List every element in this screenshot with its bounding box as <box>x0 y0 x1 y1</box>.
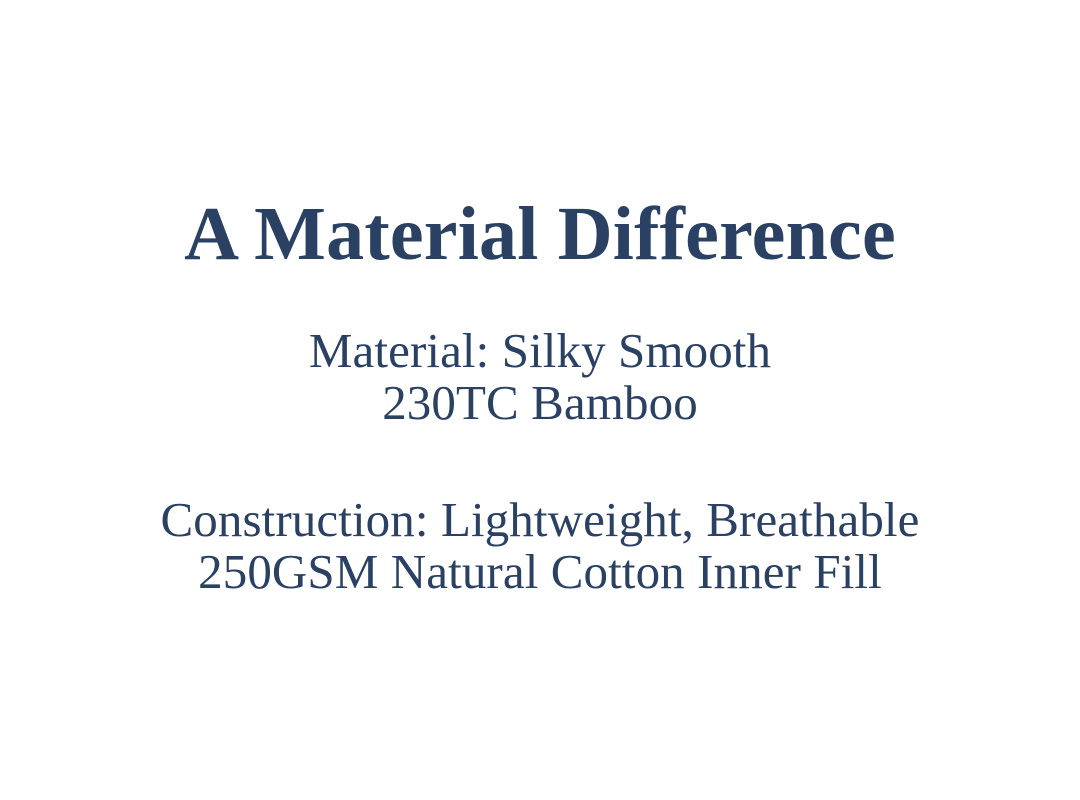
construction-line-2: 250GSM Natural Cotton Inner Fill <box>0 546 1080 598</box>
page-title: A Material Difference <box>0 196 1080 272</box>
material-line-1: Material: Silky Smooth <box>0 325 1080 377</box>
material-block: Material: Silky Smooth 230TC Bamboo <box>0 325 1080 429</box>
construction-line-1: Construction: Lightweight, Breathable <box>0 494 1080 546</box>
content-stack: A Material Difference Material: Silky Sm… <box>0 0 1080 800</box>
construction-block: Construction: Lightweight, Breathable 25… <box>0 494 1080 598</box>
slide-canvas: A Material Difference Material: Silky Sm… <box>0 0 1080 800</box>
material-line-2: 230TC Bamboo <box>0 377 1080 429</box>
